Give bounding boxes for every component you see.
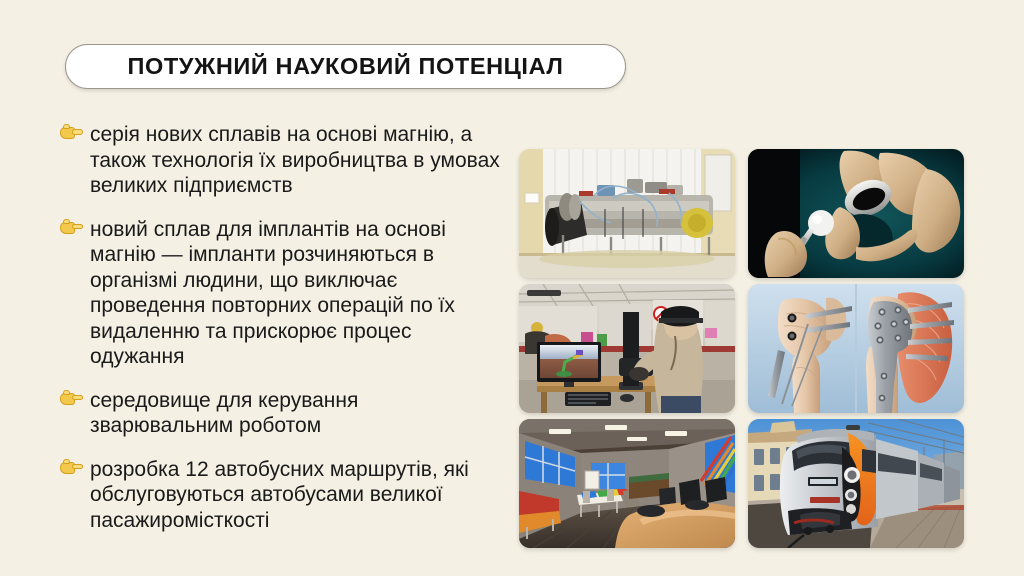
slide-root: ПОТУЖНИЙ НАУКОВИЙ ПОТЕНЦІАЛ серія нових … [0, 0, 1024, 576]
photo-hip-implant [748, 149, 964, 278]
image-gallery [519, 149, 964, 548]
list-item: серія нових сплавів на основі магнію, а … [60, 122, 500, 199]
list-item-label: серія нових сплавів на основі магнію, а … [90, 122, 500, 199]
photo-vr-welding-operator [519, 284, 735, 413]
page-title-pill: ПОТУЖНИЙ НАУКОВИЙ ПОТЕНЦІАЛ [65, 44, 626, 89]
pointing-right-hand-icon [60, 122, 90, 144]
pointing-right-hand-icon [60, 388, 90, 410]
pointing-right-hand-icon [60, 217, 90, 239]
pointing-right-hand-icon [60, 457, 90, 479]
photo-high-speed-train [748, 419, 964, 548]
list-item: новий сплав для імплантів на основі магн… [60, 217, 500, 370]
list-item: середовище для керування зварювальним ро… [60, 388, 500, 439]
photo-turbine-engine [519, 149, 735, 278]
page-title: ПОТУЖНИЙ НАУКОВИЙ ПОТЕНЦІАЛ [127, 53, 563, 80]
list-item-label: новий сплав для імплантів на основі магн… [90, 217, 500, 370]
list-item-label: середовище для керування зварювальним ро… [90, 388, 500, 439]
list-item-label: розробка 12 автобусних маршрутів, які об… [90, 457, 500, 534]
bullet-list: серія нових сплавів на основі магнію, а … [60, 122, 500, 533]
photo-3d-interior-render [519, 419, 735, 548]
photo-bone-plate-implant [748, 284, 964, 413]
list-item: розробка 12 автобусних маршрутів, які об… [60, 457, 500, 534]
